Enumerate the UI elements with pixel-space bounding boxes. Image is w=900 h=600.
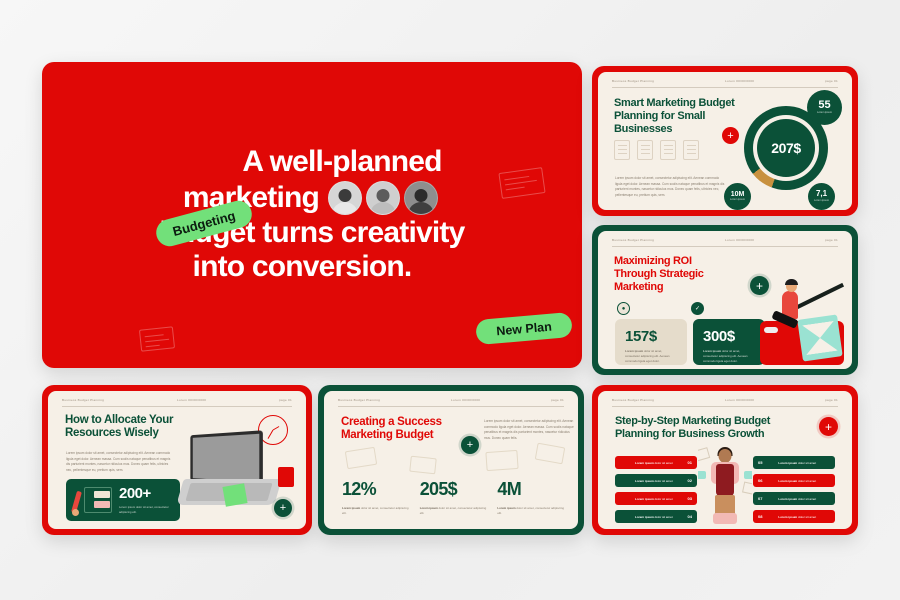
step-label-bold: Lorem ipsum — [778, 461, 797, 465]
stat-text: Lorem ipsum dolor sit amet, consectetur … — [342, 506, 409, 516]
avatar-group — [328, 181, 438, 215]
step-item[interactable]: 08Lorem ipsum dolor sit amet — [753, 510, 835, 523]
slide-header-left: Business Budget Planning — [338, 398, 380, 402]
stat-card: 200+ Lorem ipsum dolor sit amet, consect… — [66, 479, 180, 521]
decor-doodles — [614, 140, 699, 160]
document-icon — [683, 140, 699, 160]
step-label-bold: Lorem ipsum — [635, 479, 654, 483]
add-button[interactable]: + — [274, 499, 292, 517]
stat-card-value: 200+ — [119, 485, 180, 502]
slide-header: Business Budget Planning Lorem 00/00/000… — [62, 398, 292, 407]
step-number: 02 — [688, 478, 692, 483]
stat-text-bold: Lorem ipsum — [420, 506, 438, 510]
stat-value: 4M — [497, 479, 564, 500]
kpi-value: 157$ — [625, 328, 677, 345]
stat-bubble-value: 55 — [818, 100, 830, 111]
step-label-bold: Lorem ipsum — [635, 515, 654, 519]
step-label-bold: Lorem ipsum — [778, 497, 797, 501]
step-label-rest: dolor sit amet — [654, 515, 673, 519]
donut-center-value: 207$ — [757, 119, 815, 177]
slide-header: Business Budget Planning Lorem 00/00/000… — [612, 238, 838, 247]
slide-title: Creating a Success Marketing Budget — [341, 416, 461, 443]
step-item[interactable]: 06Lorem ipsum dolor sit amet — [753, 474, 835, 487]
stat-bubble: 55 Lorem ipsum — [807, 90, 842, 125]
step-item[interactable]: Lorem ipsum dolor sit amet02 — [615, 474, 697, 487]
chat-icon: ● — [617, 302, 630, 315]
decor-ticket-icon — [409, 456, 437, 475]
step-number: 08 — [758, 514, 762, 519]
slide-header-center: Lorem 00/00/0000 — [177, 398, 206, 402]
step-label-rest: dolor sit amet — [797, 479, 816, 483]
hero-line-1: A well-planned — [182, 146, 441, 178]
step-number: 07 — [758, 496, 762, 501]
slide-body-text: Lorem ipsum dolor sit amet, consectetur … — [66, 451, 174, 473]
decor-ticket-icon — [535, 443, 566, 465]
slide-creating-success[interactable]: Business Budget Planning Lorem 00/00/000… — [318, 385, 584, 535]
step-label-rest: dolor sit amet — [797, 497, 816, 501]
document-icon — [660, 140, 676, 160]
slide-header-right: page 01 — [825, 79, 838, 83]
step-label-bold: Lorem ipsum — [635, 497, 654, 501]
stat-row: 12% Lorem ipsum dolor sit amet, consecte… — [342, 479, 564, 516]
step-label: Lorem ipsum dolor sit amet — [764, 479, 830, 483]
step-number: 06 — [758, 478, 762, 483]
stat-value: 12% — [342, 479, 409, 500]
hero-line-4: into conversion. — [193, 251, 432, 283]
step-label-bold: Lorem ipsum — [635, 461, 654, 465]
step-item[interactable]: 05Lorem ipsum dolor sit amet — [753, 456, 835, 469]
document-icon — [614, 140, 630, 160]
slide-allocate-resources[interactable]: Business Budget Planning Lorem 00/00/000… — [42, 385, 312, 535]
stat-item: 12% Lorem ipsum dolor sit amet, consecte… — [342, 479, 409, 516]
step-label: Lorem ipsum dolor sit amet — [764, 515, 830, 519]
slide-title: Step-by-Step Marketing Budget Planning f… — [615, 415, 795, 441]
stat-bubble-caption: Lorem ipsum — [814, 200, 829, 203]
step-number: 01 — [688, 460, 692, 465]
slide-header-right: page 01 — [825, 238, 838, 242]
step-list-left: Lorem ipsum dolor sit amet01 Lorem ipsum… — [615, 456, 697, 523]
slide-maximizing-roi[interactable]: Business Budget Planning Lorem 00/00/000… — [592, 225, 858, 375]
step-item[interactable]: Lorem ipsum dolor sit amet04 — [615, 510, 697, 523]
document-icon — [637, 140, 653, 160]
avatar — [328, 181, 362, 215]
slide-header-center: Lorem 00/00/0000 — [451, 398, 480, 402]
step-label: Lorem ipsum dolor sit amet — [620, 479, 688, 483]
slide-header-left: Business Budget Planning — [612, 398, 654, 402]
slide-header-right: page 01 — [279, 398, 292, 402]
stat-text: Lorem ipsum dolor sit amet, consectetur … — [497, 506, 564, 516]
slide-step-by-step[interactable]: Business Budget Planning Lorem 00/00/000… — [592, 385, 858, 535]
stat-bubble-caption: Lorem ipsum — [730, 199, 745, 202]
slide-header-left: Business Budget Planning — [612, 238, 654, 242]
step-number: 04 — [688, 514, 692, 519]
decor-ticket-icon — [485, 450, 518, 471]
stat-value: 205$ — [420, 479, 487, 500]
step-label-bold: Lorem ipsum — [778, 479, 797, 483]
stat-item: 205$ Lorem ipsum dolor sit amet, consect… — [420, 479, 487, 516]
step-item[interactable]: 07Lorem ipsum dolor sit amet — [753, 492, 835, 505]
kpi-text-bold: Lorem ipsum — [703, 349, 721, 353]
kpi-card: 157$ Lorem ipsum dolor sit amet, consect… — [615, 319, 687, 365]
step-number: 03 — [688, 496, 692, 501]
step-label-rest: dolor sit amet — [654, 461, 673, 465]
slide-hero[interactable]: A well-planned marketing budget turns cr… — [42, 62, 582, 368]
slide-header-center: Lorem 00/00/0000 — [725, 238, 754, 242]
presentation-preview-canvas: A well-planned marketing budget turns cr… — [0, 0, 900, 600]
target-icon: ✓ — [691, 302, 704, 315]
slide-header-center: Lorem 00/00/0000 — [725, 398, 754, 402]
illustration-person-board — [70, 483, 114, 517]
slide-body-text: Lorem ipsum dolor sit amet, consectetur … — [615, 176, 725, 198]
step-label: Lorem ipsum dolor sit amet — [620, 515, 688, 519]
step-label: Lorem ipsum dolor sit amet — [764, 461, 830, 465]
slide-smart-marketing[interactable]: Business Budget Planning Lorem 00/00/000… — [592, 66, 858, 216]
slide-header-left: Business Budget Planning — [612, 79, 654, 83]
stat-item: 4M Lorem ipsum dolor sit amet, consectet… — [497, 479, 564, 516]
add-button[interactable]: + — [819, 417, 838, 436]
slide-title: Maximizing ROI Through Strategic Marketi… — [614, 255, 734, 293]
stat-bubble: 7,1 Lorem ipsum — [808, 183, 835, 210]
illustration-person-hourglass — [752, 269, 848, 369]
slide-header: Business Budget Planning Lorem 00/00/000… — [612, 398, 838, 407]
slide-header-center: Lorem 00/00/0000 — [725, 79, 754, 83]
kpi-value: 300$ — [703, 328, 755, 345]
avatar — [404, 181, 438, 215]
stat-bubble-caption: Lorem ipsum — [817, 112, 832, 115]
slide-header-right: page 01 — [825, 398, 838, 402]
slide-header-left: Business Budget Planning — [62, 398, 104, 402]
avatar — [366, 181, 400, 215]
step-label-bold: Lorem ipsum — [778, 515, 797, 519]
stat-bubble: 10M Lorem ipsum — [724, 183, 751, 210]
stat-text: Lorem ipsum dolor sit amet, consectetur … — [420, 506, 487, 516]
step-label-rest: dolor sit amet — [797, 515, 816, 519]
stat-card-text: Lorem ipsum dolor sit amet, consectetur … — [119, 505, 180, 515]
step-label-rest: dolor sit amet — [797, 461, 816, 465]
add-button[interactable]: + — [461, 436, 479, 454]
stat-bubble-value: 10M — [731, 191, 745, 198]
step-label-rest: dolor sit amet — [654, 479, 673, 483]
decor-ticket-icon — [345, 447, 377, 469]
slide-header: Business Budget Planning Lorem 00/00/000… — [612, 79, 838, 88]
step-label: Lorem ipsum dolor sit amet — [764, 497, 830, 501]
stat-bubble-value: 7,1 — [816, 190, 827, 198]
step-label: Lorem ipsum dolor sit amet — [620, 497, 688, 501]
kpi-text-bold: Lorem ipsum — [625, 349, 643, 353]
kpi-text: Lorem ipsum dolor sit amet, consectetur … — [625, 349, 677, 364]
slide-header: Business Budget Planning Lorem 00/00/000… — [338, 398, 564, 407]
step-item[interactable]: Lorem ipsum dolor sit amet03 — [615, 492, 697, 505]
stat-text-bold: Lorem ipsum — [342, 506, 360, 510]
stat-text-bold: Lorem ipsum — [497, 506, 515, 510]
slide-body-text: Lorem ipsum dolor sit amet, consectetur … — [484, 419, 574, 441]
kpi-text: Lorem ipsum dolor sit amet, consectetur … — [703, 349, 755, 364]
step-label-rest: dolor sit amet — [654, 497, 673, 501]
step-list-right: 05Lorem ipsum dolor sit amet 06Lorem ips… — [753, 456, 835, 523]
illustration-person-apron — [698, 447, 752, 529]
slide-header-right: page 01 — [551, 398, 564, 402]
step-label: Lorem ipsum dolor sit amet — [620, 461, 688, 465]
donut-chart: 207$ 55 Lorem ipsum 10M Lorem ipsum 7,1 … — [724, 88, 844, 210]
step-number: 05 — [758, 460, 762, 465]
step-item[interactable]: Lorem ipsum dolor sit amet01 — [615, 456, 697, 469]
